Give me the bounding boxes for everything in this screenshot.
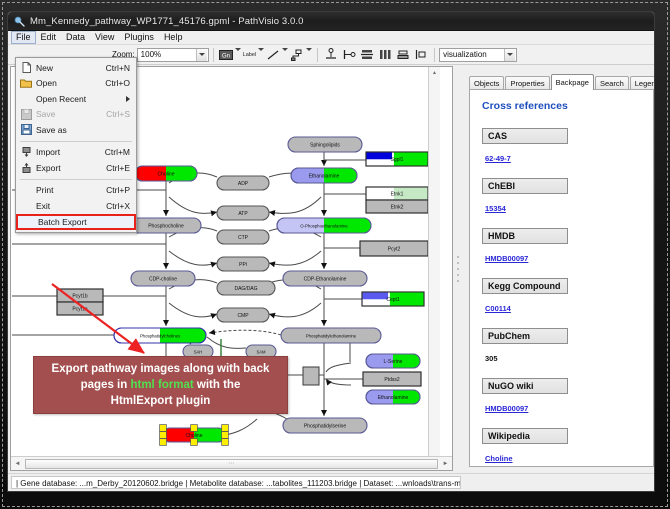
file-menu-item-label: New: [36, 63, 106, 73]
node-label: Choline: [186, 433, 203, 439]
xref-value-link[interactable]: Choline: [482, 454, 513, 463]
file-menu-item-label: Export: [36, 163, 106, 173]
file-menu-item-accelerator: Ctrl+N: [106, 63, 136, 73]
node-label: Sphingolipids: [310, 142, 340, 148]
node-label: Phosphocholine: [148, 223, 184, 229]
xref-kegg-compound: Kegg Compound C00114: [482, 278, 643, 322]
interaction-tool-button[interactable]: [290, 47, 312, 63]
pathway-node-ethanolamine-right[interactable]: Ethanolamine: [366, 390, 420, 404]
node-label: Etnk1: [391, 191, 404, 197]
visualization-combobox[interactable]: visualization: [439, 48, 517, 62]
callout-line2-a: pages in: [81, 379, 131, 391]
scroll-left-icon[interactable]: ◄: [11, 457, 24, 470]
node-label: Ethanolamine: [309, 173, 340, 179]
file-menu-item-label: Open Recent: [36, 94, 126, 104]
xref-value-link[interactable]: C00114: [482, 304, 511, 313]
xref-source-label: Kegg Compound: [482, 278, 568, 294]
pathway-node-l-serine[interactable]: L-Serine: [366, 354, 420, 368]
node-label: Cept1: [386, 297, 400, 303]
label-tool-button[interactable]: Label: [243, 47, 264, 63]
tab-backpage[interactable]: Backpage: [551, 74, 594, 90]
file-menu-item-accelerator: Ctrl+P: [106, 185, 136, 195]
import-icon: [16, 147, 36, 158]
file-menu-item-exit[interactable]: ExitCtrl+X: [16, 198, 136, 214]
save-disk-icon: [16, 109, 36, 120]
node-label: CMP: [237, 313, 249, 319]
file-menu-item-open-recent[interactable]: Open Recent: [16, 91, 136, 107]
pathway-node-phosphatidylethanolamine[interactable]: Phosphatidylethanolamine: [281, 328, 381, 343]
canvas-vertical-scrollbar[interactable]: ▲: [428, 67, 440, 456]
file-menu-item-print[interactable]: PrintCtrl+P: [16, 183, 136, 199]
xref-value-link[interactable]: HMDB00097: [482, 404, 528, 413]
selection-handle[interactable]: [160, 432, 167, 439]
chevron-down-icon[interactable]: [282, 51, 288, 58]
node-label: CDP-Ethanolamine: [304, 276, 347, 282]
pathway-node-atp[interactable]: ATP: [217, 206, 269, 220]
xref-value-link[interactable]: 62-49-7: [482, 154, 511, 163]
selection-handle[interactable]: [222, 432, 229, 439]
pathway-node-choline-top[interactable]: Choline: [135, 166, 197, 181]
xref-source-label: NuGO wiki: [482, 378, 568, 394]
label-tool-text: Label: [243, 52, 256, 58]
annotation-callout-text: Export pathway images along with back pa…: [44, 361, 278, 409]
file-menu-item-label: Save: [36, 109, 106, 119]
node-label: SAM: [256, 349, 266, 354]
statusbar: | Gene database: ...m_Derby_20120602.bri…: [8, 473, 655, 491]
pathvisio-icon: [14, 16, 25, 27]
file-menu-item-batch-export[interactable]: Batch Export: [16, 214, 136, 230]
chevron-down-icon[interactable]: [306, 51, 312, 58]
selection-handle[interactable]: [191, 439, 198, 446]
selection-handle[interactable]: [222, 439, 229, 446]
file-menu-item-accelerator: Ctrl+M: [105, 147, 136, 157]
menu-help[interactable]: Help: [159, 31, 188, 44]
file-menu-item-label: Open: [36, 78, 105, 88]
selection-handle[interactable]: [222, 425, 229, 432]
xref-value-link[interactable]: HMDB00097: [482, 254, 528, 263]
pathway-gene-ptdss2[interactable]: Ptdss2: [363, 372, 421, 386]
scroll-up-icon[interactable]: ▲: [429, 67, 440, 78]
chevron-down-icon[interactable]: [196, 49, 207, 61]
callout-line1: Export pathway images along with back: [52, 363, 270, 375]
pathway-node-choline-selected[interactable]: Choline: [160, 425, 229, 446]
node-label: CTP: [238, 235, 249, 241]
menu-plugins[interactable]: Plugins: [119, 31, 159, 44]
xref-chebi: ChEBI 15354: [482, 178, 643, 222]
tab-objects[interactable]: Objects: [469, 76, 504, 90]
xref-value-link[interactable]: 15354: [482, 204, 506, 213]
annotation-callout: Export pathway images along with back pa…: [33, 356, 288, 414]
window-titlebar: Mm_Kennedy_pathway_WP1771_45176.gpml - P…: [8, 12, 655, 31]
file-menu-item-label: Import: [36, 147, 105, 157]
toolbar-separator-3: [434, 48, 435, 62]
xref-source-label: Wikipedia: [482, 428, 568, 444]
panel-splitter[interactable]: [455, 66, 462, 471]
side-panel: Objects Properties Backpage Search Legen…: [463, 66, 654, 471]
file-menu-dropdown[interactable]: NewCtrl+NOpenCtrl+OOpen RecentSaveCtrl+S…: [15, 57, 137, 233]
xref-wikipedia: Wikipedia Choline: [482, 428, 643, 467]
side-panel-tabs: Objects Properties Backpage Search Legen…: [469, 75, 654, 90]
pathway-node-cdp-ethanolamine[interactable]: CDP-Ethanolamine: [283, 271, 367, 286]
menu-view[interactable]: View: [90, 31, 119, 44]
toolbar-separator-2: [317, 48, 318, 62]
callout-line2-b: with the: [194, 379, 241, 391]
pathway-node-ethanolamine-top[interactable]: Ethanolamine: [291, 168, 357, 183]
svg-text:Gn: Gn: [222, 53, 230, 59]
node-label: Pcyt2: [388, 246, 401, 252]
xref-hmdb: HMDB HMDB00097: [482, 228, 643, 272]
file-menu-item-accelerator: Ctrl+O: [105, 78, 136, 88]
file-menu-item-open[interactable]: OpenCtrl+O: [16, 76, 136, 92]
callout-html-format-highlight: html format: [130, 379, 193, 391]
pathway-gene-sgpl1[interactable]: Sgpl1: [366, 152, 428, 166]
statusbar-text: | Gene database: ...m_Derby_20120602.bri…: [11, 476, 461, 489]
pathway-gene-etnk2[interactable]: Etnk2: [366, 200, 428, 213]
backpage-content: Cross references CAS 62-49-7 ChEBI 15354…: [469, 89, 654, 467]
canvas-horizontal-scrollbar[interactable]: ◄ ⋯ ►: [11, 456, 452, 470]
visualization-value: visualization: [443, 50, 487, 59]
xref-source-label: PubChem: [482, 328, 568, 344]
file-menu-item-label: Save as: [36, 125, 130, 135]
node-label: Etnk2: [391, 204, 404, 210]
xref-source-label: HMDB: [482, 228, 568, 244]
pathway-gene-cept1[interactable]: Cept1: [362, 292, 424, 306]
menu-data[interactable]: Data: [61, 31, 90, 44]
align-vertical-button[interactable]: [359, 47, 375, 63]
node-label: L-Serine: [384, 359, 403, 365]
xref-nugo-wiki: NuGO wiki HMDB00097: [482, 378, 643, 422]
node-label: ATP: [238, 211, 248, 217]
chevron-down-icon[interactable]: [504, 49, 515, 61]
red-arrow-annotation: [49, 281, 164, 366]
menu-separator: [20, 141, 132, 142]
node-label: O-Phosphoethanolamine: [300, 223, 348, 228]
pathway-node-o-phosphoethanolamine[interactable]: O-Phosphoethanolamine: [277, 218, 371, 233]
xref-value-text: 305: [482, 354, 498, 363]
node-label: Ptdss2: [384, 377, 400, 383]
pathway-node-cmp[interactable]: CMP: [217, 308, 269, 322]
node-label: SAH: [194, 349, 203, 354]
new-file-icon: [16, 62, 36, 73]
node-label: PPi: [239, 262, 247, 268]
file-menu-item-accelerator: Ctrl+S: [106, 109, 136, 119]
pathway-node-phosphocholine[interactable]: Phosphocholine: [131, 218, 201, 233]
node-label: DAG/DAG: [234, 286, 257, 292]
menubar: File Edit Data View Plugins Help: [8, 31, 655, 45]
selection-handle[interactable]: [160, 439, 167, 446]
file-menu-item-import[interactable]: ImportCtrl+M: [16, 145, 136, 161]
file-menu-item-label: Exit: [36, 201, 106, 211]
file-menu-item-save-as[interactable]: Save as: [16, 122, 136, 138]
node-label: Phosphatidylethanolamine: [306, 333, 357, 338]
export-icon: [16, 162, 36, 173]
xref-cas: CAS 62-49-7: [482, 128, 643, 172]
pathway-node-ppi[interactable]: PPi: [217, 257, 269, 271]
node-label: Ethanolamine: [378, 395, 409, 401]
selection-handle[interactable]: [160, 425, 167, 432]
datanode-tool-button[interactable]: Gn: [219, 47, 241, 63]
file-menu-item-accelerator: Ctrl+X: [106, 201, 136, 211]
tab-legend[interactable]: Legend: [630, 76, 655, 90]
pathway-node-phosphatidylserine[interactable]: Phosphatidylserine: [283, 418, 367, 433]
selection-handle[interactable]: [191, 425, 198, 432]
align-top-button[interactable]: [323, 47, 339, 63]
gene-expression-block: [362, 292, 388, 299]
stack-center-button[interactable]: [395, 47, 411, 63]
pathway-node-ctp[interactable]: CTP: [217, 230, 269, 244]
desktop-background: Mm_Kennedy_pathway_WP1771_45176.gpml - P…: [0, 0, 670, 509]
tab-properties[interactable]: Properties: [505, 76, 549, 90]
zoom-value: 100%: [141, 50, 161, 59]
window-title: Mm_Kennedy_pathway_WP1771_45176.gpml - P…: [30, 16, 304, 27]
xref-source-label: CAS: [482, 128, 568, 144]
align-left-button[interactable]: [341, 47, 357, 63]
callout-line3: HtmlExport plugin: [111, 395, 211, 407]
distribute-horizontal-button[interactable]: [377, 47, 393, 63]
chevron-down-icon[interactable]: [258, 51, 264, 58]
scroll-right-icon[interactable]: ►: [439, 457, 452, 470]
line-tool-button[interactable]: [266, 47, 288, 63]
node-label: Phosphatidylserine: [304, 423, 346, 429]
pathway-node-sphingolipids[interactable]: Sphingolipids: [288, 137, 362, 152]
chevron-right-icon: [126, 96, 130, 102]
save-as-icon: [16, 124, 36, 135]
pathway-gene-pcyt2[interactable]: Pcyt2: [360, 241, 428, 256]
menu-file[interactable]: File: [11, 31, 36, 44]
common-width-button[interactable]: [413, 47, 429, 63]
xref-pubchem: PubChem 305: [482, 328, 643, 372]
tab-search[interactable]: Search: [595, 76, 629, 90]
pathway-node-dag-dag[interactable]: DAG/DAG: [217, 281, 275, 295]
gene-expression-block: [366, 152, 392, 159]
file-menu-item-accelerator: Ctrl+E: [106, 163, 136, 173]
xref-source-label: ChEBI: [482, 178, 568, 194]
scroll-thumb[interactable]: ⋯: [25, 459, 438, 469]
toolbar-separator: [213, 48, 214, 62]
node-label: Choline: [158, 171, 175, 177]
open-folder-icon: [16, 78, 36, 88]
file-menu-item-export[interactable]: ExportCtrl+E: [16, 160, 136, 176]
menu-edit[interactable]: Edit: [36, 31, 62, 44]
file-menu-item-label: Batch Export: [38, 217, 128, 227]
node-label: ADP: [238, 181, 249, 187]
zoom-combobox[interactable]: 100%: [137, 48, 209, 62]
pathway-node-adp[interactable]: ADP: [217, 176, 269, 190]
menu-separator: [20, 179, 132, 180]
pathvisio-application-window: Mm_Kennedy_pathway_WP1771_45176.gpml - P…: [7, 11, 655, 492]
file-menu-item-new[interactable]: NewCtrl+N: [16, 60, 136, 76]
file-menu-item-label: Print: [36, 185, 106, 195]
file-menu-item-save: SaveCtrl+S: [16, 107, 136, 123]
pathway-gene-etnk1[interactable]: Etnk1: [366, 187, 428, 200]
chevron-down-icon[interactable]: [235, 51, 241, 58]
splitter-grip-icon: [457, 256, 460, 282]
node-label: Sgpl1: [391, 157, 404, 163]
cross-references-title: Cross references: [482, 100, 643, 112]
